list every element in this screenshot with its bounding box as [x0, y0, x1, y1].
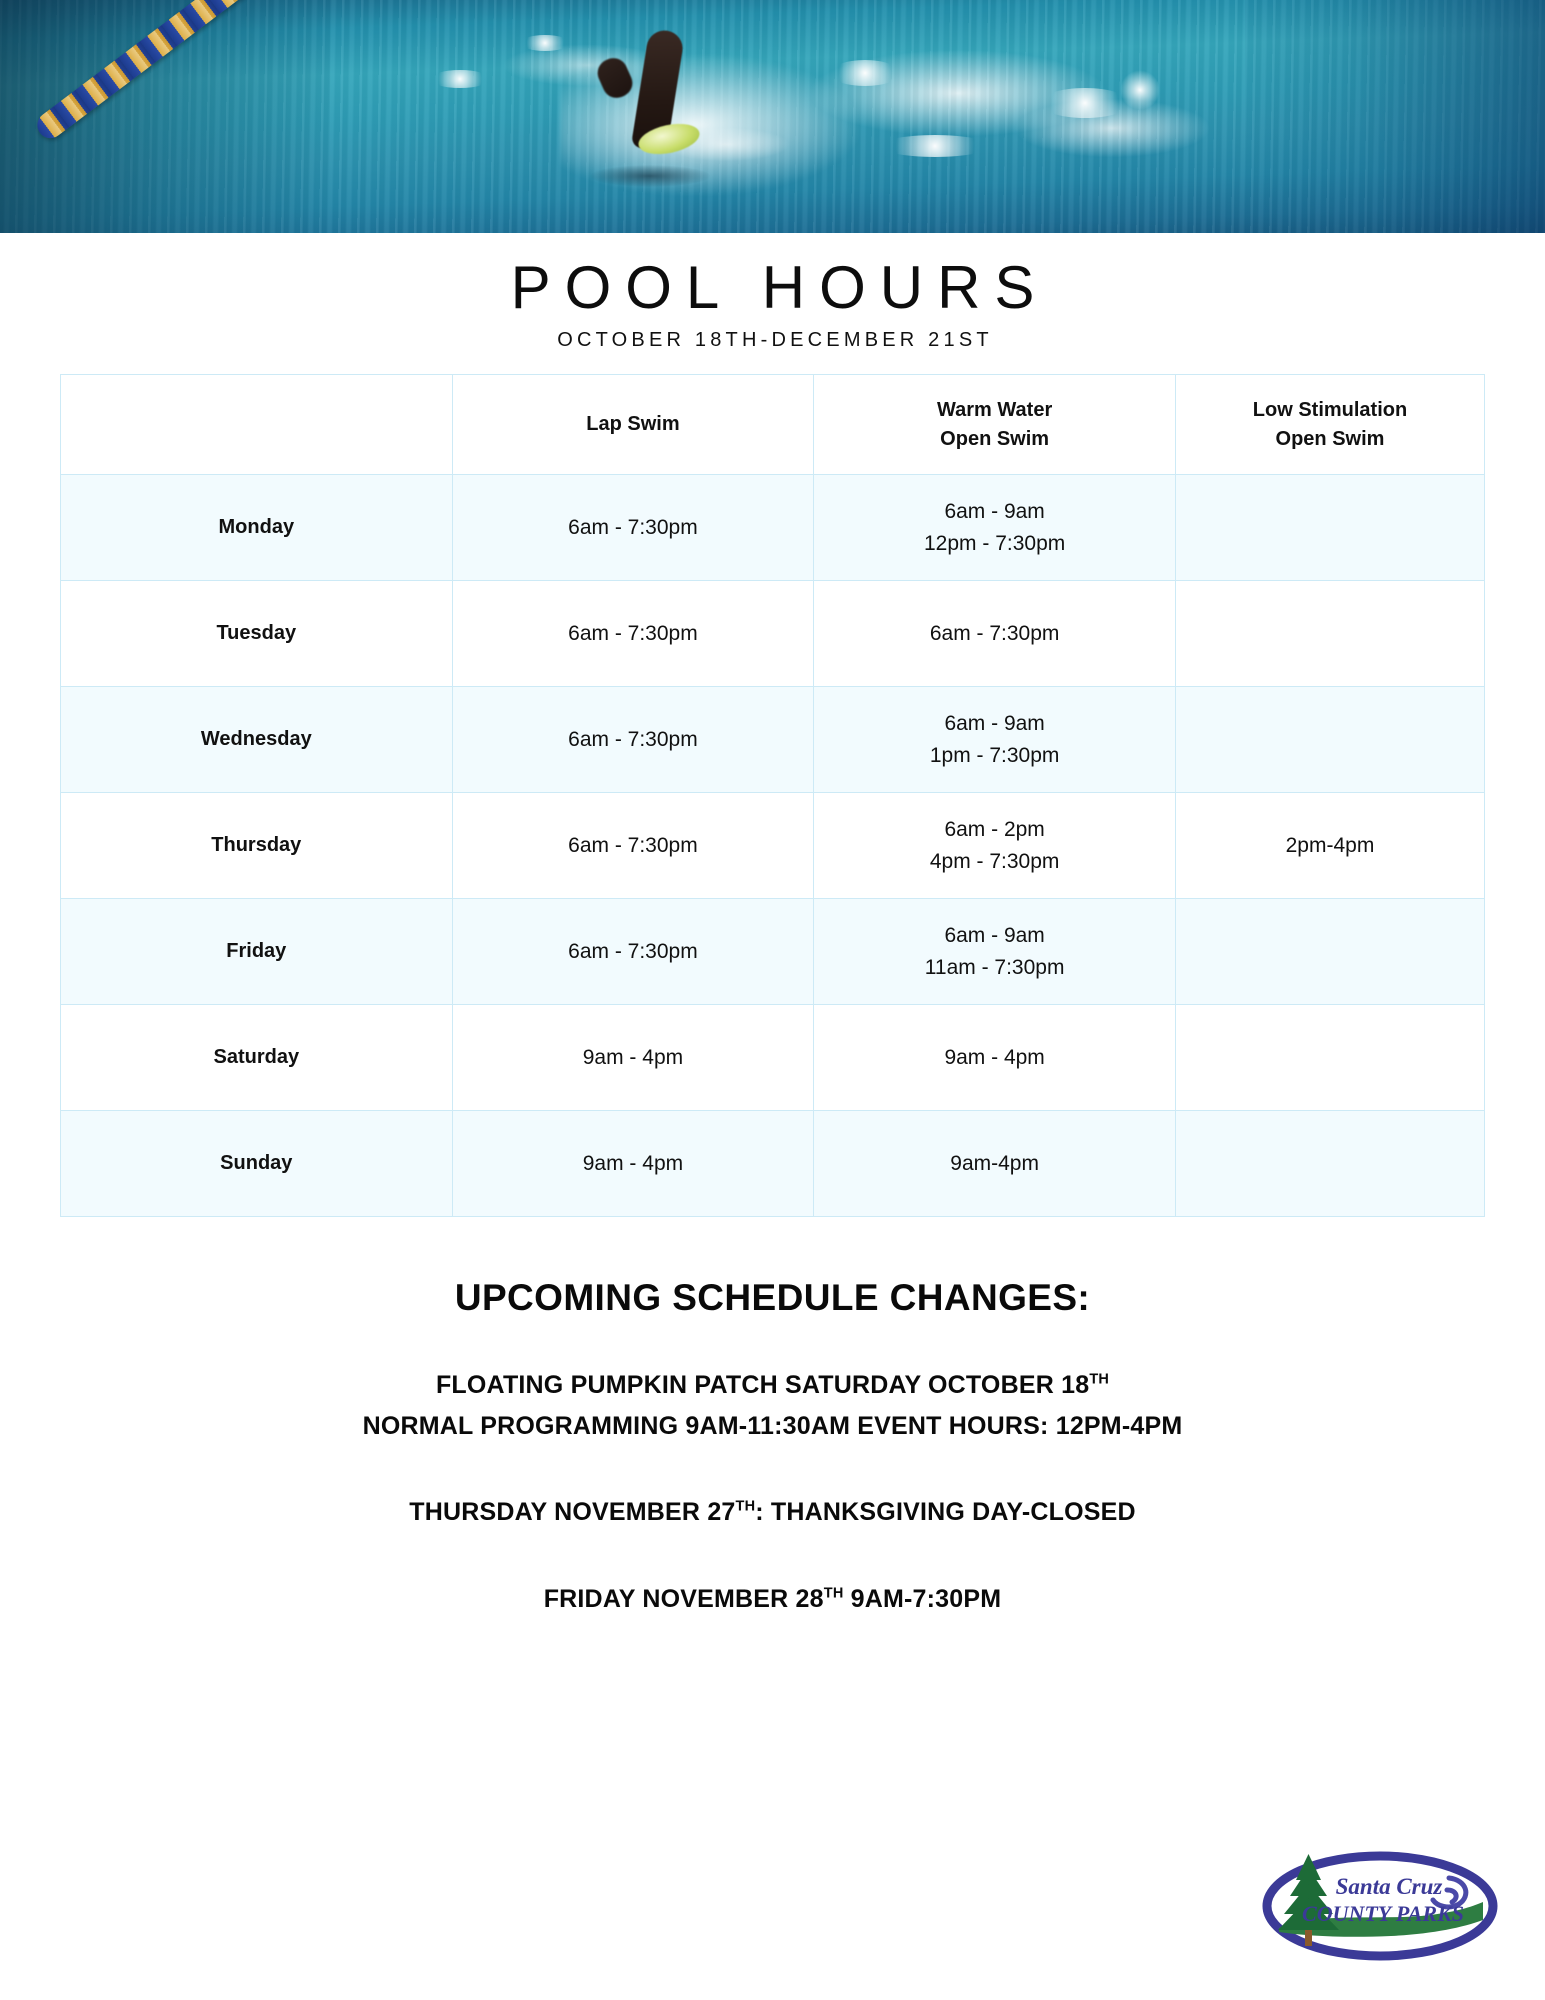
sparkle-icon [880, 135, 990, 157]
ordinal-suffix: TH [736, 1499, 756, 1515]
date-range-subtitle: OCTOBER 18TH-DECEMBER 21ST [0, 329, 1545, 352]
table-row: Monday 6am - 7:30pm 6am - 9am 12pm - 7:3… [61, 475, 1485, 581]
ordinal-suffix: TH [824, 1585, 844, 1601]
sparkle-icon [1120, 70, 1160, 110]
table-row: Sunday 9am - 4pm 9am-4pm [61, 1111, 1485, 1217]
upcoming-changes-heading: UPCOMING SCHEDULE CHANGES: [0, 1277, 1545, 1319]
hours-line: 1pm - 7:30pm [814, 740, 1175, 771]
day-label: Wednesday [61, 687, 453, 793]
hours-line: 6am - 7:30pm [453, 936, 814, 967]
pumpkin-patch-line-1: FLOATING PUMPKIN PATCH SATURDAY OCTOBER … [0, 1365, 1545, 1406]
thanksgiving-text-end: : THANKSGIVING DAY-CLOSED [755, 1498, 1136, 1526]
logo-line-2: COUNTY PARKS [1302, 1901, 1464, 1926]
table-row: Friday 6am - 7:30pm 6am - 9am 11am - 7:3… [61, 899, 1485, 1005]
hours-line: 6am - 7:30pm [453, 830, 814, 861]
thanksgiving-text-start: THURSDAY NOVEMBER 27 [409, 1498, 735, 1526]
warm-water-cell: 9am-4pm [814, 1111, 1176, 1217]
low-stimulation-cell [1175, 899, 1484, 1005]
day-label: Tuesday [61, 581, 453, 687]
hours-line: 2pm-4pm [1176, 830, 1484, 861]
lap-swim-cell: 9am - 4pm [452, 1005, 814, 1111]
column-header-warm-water-open-swim: Warm Water Open Swim [814, 375, 1176, 475]
lap-swim-cell: 9am - 4pm [452, 1111, 814, 1217]
day-label: Saturday [61, 1005, 453, 1111]
column-header-low-stimulation-open-swim: Low Stimulation Open Swim [1175, 375, 1484, 475]
pumpkin-patch-notice: FLOATING PUMPKIN PATCH SATURDAY OCTOBER … [0, 1365, 1545, 1446]
sparkle-icon [520, 35, 570, 51]
lap-swim-cell: 6am - 7:30pm [452, 581, 814, 687]
low-stimulation-cell [1175, 475, 1484, 581]
column-header-line: Open Swim [814, 425, 1175, 454]
low-stimulation-cell [1175, 1111, 1484, 1217]
friday-after-thanksgiving-notice: FRIDAY NOVEMBER 28TH 9AM-7:30PM [0, 1579, 1545, 1620]
thanksgiving-line: THURSDAY NOVEMBER 27TH: THANKSGIVING DAY… [0, 1492, 1545, 1533]
hours-line: 6am - 9am [814, 496, 1175, 527]
thanksgiving-notice: THURSDAY NOVEMBER 27TH: THANKSGIVING DAY… [0, 1492, 1545, 1533]
table-header-row: Lap Swim Warm Water Open Swim Low Stimul… [61, 375, 1485, 475]
page-title: POOL HOURS [0, 255, 1545, 321]
column-header-line: Lap Swim [453, 410, 814, 439]
hours-line: 6am - 2pm [814, 814, 1175, 845]
table-header: Lap Swim Warm Water Open Swim Low Stimul… [61, 375, 1485, 475]
low-stimulation-cell: 2pm-4pm [1175, 793, 1484, 899]
sparkle-icon [1040, 88, 1130, 118]
logo-svg: Santa Cruz COUNTY PARKS [1261, 1846, 1499, 1978]
column-header-line: Open Swim [1176, 425, 1484, 454]
warm-water-cell: 6am - 9am 12pm - 7:30pm [814, 475, 1176, 581]
warm-water-cell: 6am - 7:30pm [814, 581, 1176, 687]
hours-line: 6am - 7:30pm [453, 512, 814, 543]
low-stimulation-cell [1175, 687, 1484, 793]
column-header-blank [61, 375, 453, 475]
column-header-line: Low Stimulation [1176, 396, 1484, 425]
warm-water-cell: 6am - 9am 11am - 7:30pm [814, 899, 1176, 1005]
day-label: Monday [61, 475, 453, 581]
day-label: Friday [61, 899, 453, 1005]
sparkle-icon [430, 70, 490, 88]
pool-hours-flyer: POOL HOURS OCTOBER 18TH-DECEMBER 21ST La… [0, 0, 1545, 2000]
table-row: Tuesday 6am - 7:30pm 6am - 7:30pm [61, 581, 1485, 687]
hours-line: 9am - 4pm [453, 1042, 814, 1073]
sparkle-icon [830, 60, 900, 86]
upcoming-changes-section: UPCOMING SCHEDULE CHANGES: FLOATING PUMP… [0, 1277, 1545, 1619]
santa-cruz-county-parks-logo: Santa Cruz COUNTY PARKS [1261, 1846, 1499, 1978]
hours-line: 9am - 4pm [814, 1042, 1175, 1073]
low-stimulation-cell [1175, 581, 1484, 687]
table-row: Saturday 9am - 4pm 9am - 4pm [61, 1005, 1485, 1111]
pumpkin-patch-text: FLOATING PUMPKIN PATCH SATURDAY OCTOBER … [436, 1371, 1089, 1399]
hours-line: 6am - 7:30pm [814, 618, 1175, 649]
table-row: Thursday 6am - 7:30pm 6am - 2pm 4pm - 7:… [61, 793, 1485, 899]
lap-swim-cell: 6am - 7:30pm [452, 687, 814, 793]
day-label: Sunday [61, 1111, 453, 1217]
hours-line: 6am - 7:30pm [453, 724, 814, 755]
warm-water-cell: 6am - 2pm 4pm - 7:30pm [814, 793, 1176, 899]
swimmer-shadow [590, 165, 710, 187]
ordinal-suffix: TH [1089, 1372, 1109, 1388]
hours-line: 12pm - 7:30pm [814, 528, 1175, 559]
table-body: Monday 6am - 7:30pm 6am - 9am 12pm - 7:3… [61, 475, 1485, 1217]
hero-pool-photo [0, 0, 1545, 233]
lap-swim-cell: 6am - 7:30pm [452, 475, 814, 581]
column-header-lap-swim: Lap Swim [452, 375, 814, 475]
warm-water-cell: 6am - 9am 1pm - 7:30pm [814, 687, 1176, 793]
lap-swim-cell: 6am - 7:30pm [452, 793, 814, 899]
schedule-table-wrapper: Lap Swim Warm Water Open Swim Low Stimul… [60, 374, 1485, 1217]
hours-line: 9am-4pm [814, 1148, 1175, 1179]
friday-text-end: 9AM-7:30PM [844, 1585, 1002, 1613]
friday-hours-line: FRIDAY NOVEMBER 28TH 9AM-7:30PM [0, 1579, 1545, 1620]
title-block: POOL HOURS OCTOBER 18TH-DECEMBER 21ST [0, 233, 1545, 352]
logo-line-1: Santa Cruz [1336, 1874, 1443, 1899]
table-row: Wednesday 6am - 7:30pm 6am - 9am 1pm - 7… [61, 687, 1485, 793]
friday-text-start: FRIDAY NOVEMBER 28 [544, 1585, 824, 1613]
hours-line: 4pm - 7:30pm [814, 846, 1175, 877]
hours-line: 9am - 4pm [453, 1148, 814, 1179]
hours-line: 6am - 9am [814, 920, 1175, 951]
pool-hours-table: Lap Swim Warm Water Open Swim Low Stimul… [60, 374, 1485, 1217]
column-header-line: Warm Water [814, 396, 1175, 425]
low-stimulation-cell [1175, 1005, 1484, 1111]
water-shadow-right [1245, 0, 1545, 233]
day-label: Thursday [61, 793, 453, 899]
hours-line: 6am - 7:30pm [453, 618, 814, 649]
warm-water-cell: 9am - 4pm [814, 1005, 1176, 1111]
hours-line: 6am - 9am [814, 708, 1175, 739]
lap-swim-cell: 6am - 7:30pm [452, 899, 814, 1005]
hours-line: 11am - 7:30pm [814, 952, 1175, 983]
pumpkin-patch-line-2: NORMAL PROGRAMMING 9AM-11:30AM EVENT HOU… [0, 1406, 1545, 1447]
